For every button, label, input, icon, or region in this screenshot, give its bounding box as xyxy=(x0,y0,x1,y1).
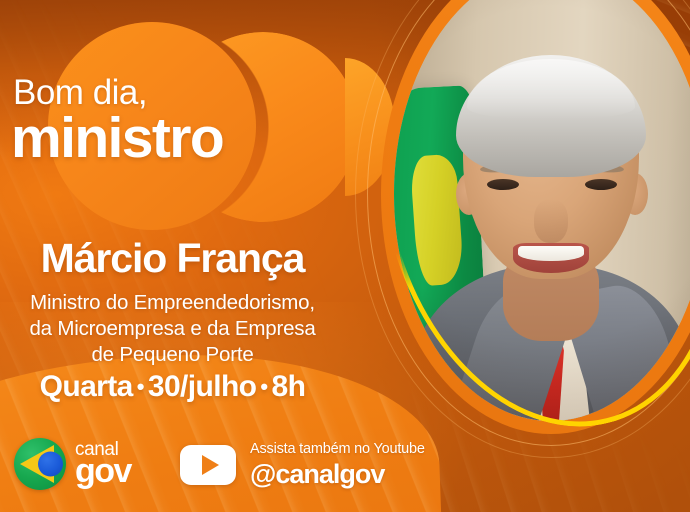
youtube-play-icon[interactable] xyxy=(180,445,236,485)
schedule-weekday: Quarta xyxy=(40,370,133,403)
guest-role-line3: de Pequeno Porte xyxy=(0,342,345,368)
youtube-handle: @canalgov xyxy=(250,460,425,488)
brasil-blue-dot xyxy=(38,452,63,477)
canalgov-wordmark: canal gov xyxy=(75,441,131,488)
youtube-callout: Assista também no Youtube xyxy=(250,442,425,457)
canalgov-logo[interactable]: canal gov xyxy=(14,438,131,490)
schedule-date: 30/julho xyxy=(148,370,257,403)
program-title-line2: ministro xyxy=(11,110,223,167)
schedule-separator-1: • xyxy=(133,374,148,399)
schedule-line: Quarta•30/julho•8h xyxy=(0,372,345,402)
play-triangle-shape xyxy=(202,455,219,475)
guest-role-line1: Ministro do Empreendedorismo, xyxy=(0,290,345,316)
guest-role: Ministro do Empreendedorismo, da Microem… xyxy=(0,290,345,368)
youtube-cta[interactable]: Assista também no Youtube @canalgov xyxy=(180,442,425,488)
youtube-text: Assista também no Youtube @canalgov xyxy=(250,442,425,488)
schedule-time: 8h xyxy=(272,370,306,403)
guest-role-line2: da Microempresa e da Empresa xyxy=(0,316,345,342)
broadcast-announcement-card: Bom dia, ministro Márcio França Ministro… xyxy=(0,0,690,512)
guest-name: Márcio França xyxy=(0,238,345,279)
canalgov-word-gov: gov xyxy=(75,456,131,487)
brasil-circle-icon xyxy=(14,438,66,490)
guest-portrait xyxy=(381,0,690,434)
schedule-separator-2: • xyxy=(256,374,271,399)
program-title-line1: Bom dia, xyxy=(13,75,147,110)
